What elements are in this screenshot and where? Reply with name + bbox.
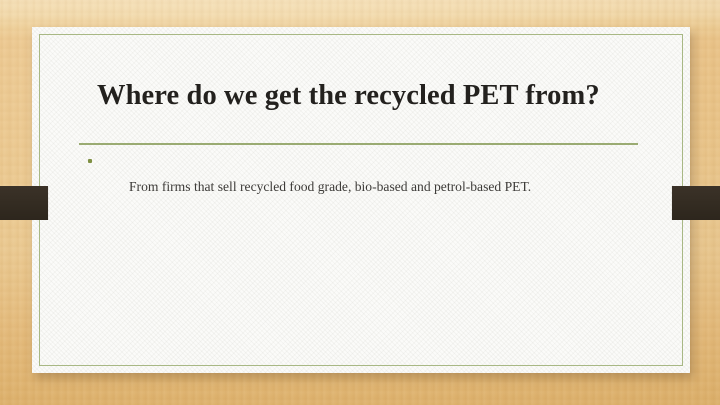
bullet-list-item: From firms that sell recycled food grade… <box>79 155 659 196</box>
slide-title: Where do we get the recycled PET from? <box>97 79 657 113</box>
bullet-item-text: From firms that sell recycled food grade… <box>129 155 659 196</box>
slide-body-placeholder: From firms that sell recycled food grade… <box>79 155 659 196</box>
left-ribbon-bar <box>0 186 48 220</box>
right-ribbon-bar <box>672 186 720 220</box>
square-bullet-icon <box>88 159 92 163</box>
title-underline-rule <box>79 143 638 145</box>
slide-canvas: Where do we get the recycled PET from? F… <box>32 27 690 373</box>
presentation-slide-stage: Where do we get the recycled PET from? F… <box>0 0 720 405</box>
